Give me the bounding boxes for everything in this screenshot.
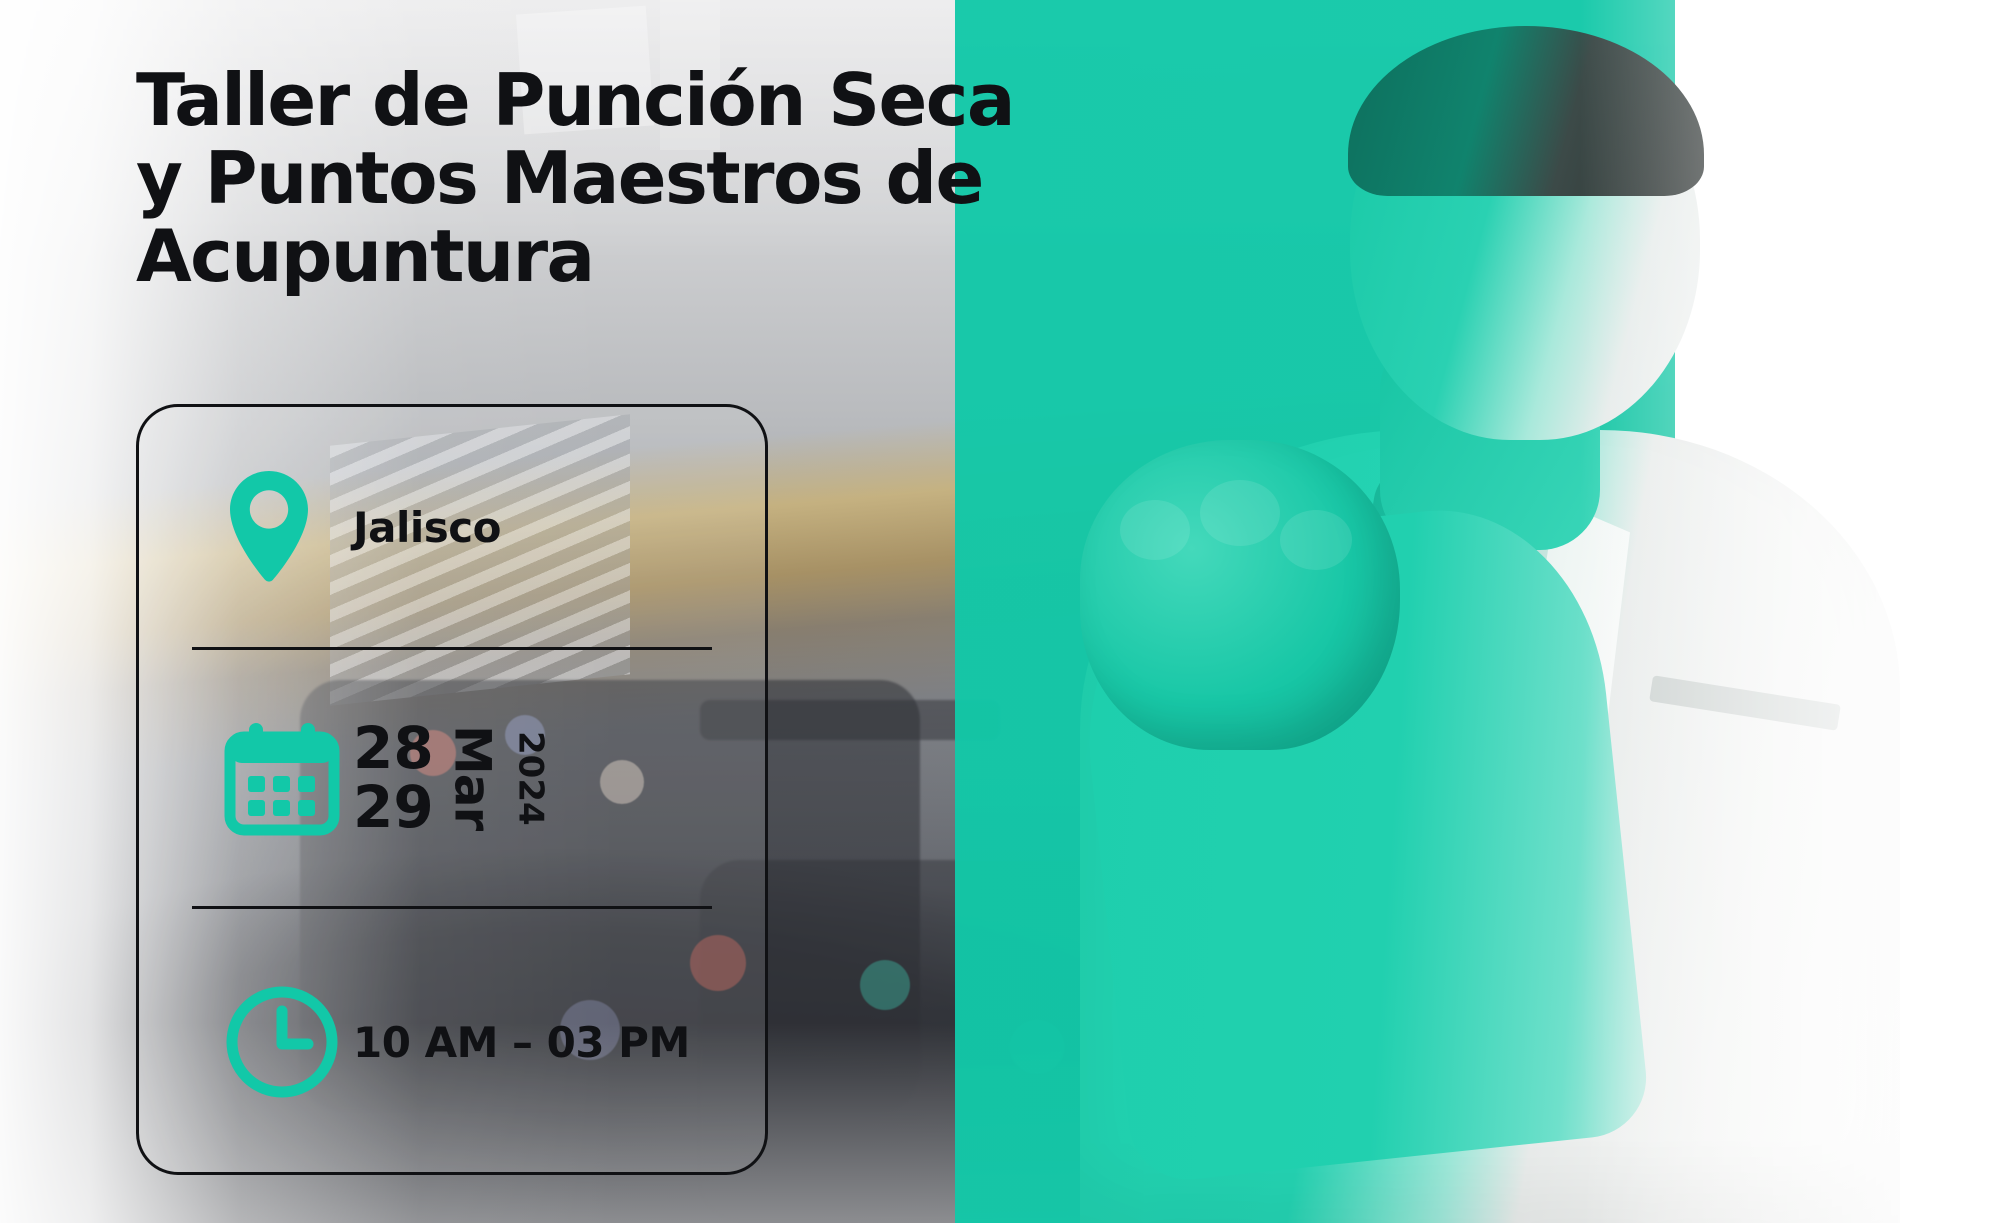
- date-month: Mar: [448, 725, 498, 830]
- presenter-hair: [1348, 26, 1704, 196]
- calendar-icon: [223, 719, 353, 837]
- event-poster: Taller de Punción Seca y Puntos Maestros…: [0, 0, 2000, 1223]
- time-value: 10 AM – 03 PM: [353, 1018, 690, 1067]
- info-row-time: 10 AM – 03 PM: [139, 909, 765, 1175]
- location-value: Jalisco: [353, 503, 501, 552]
- info-row-date: 28 29 Mar 2024: [139, 650, 765, 906]
- presenter-pointing-fist: [1080, 440, 1400, 750]
- date-days: 28 29: [353, 719, 434, 837]
- date-day-second: 29: [353, 778, 434, 837]
- info-row-location: Jalisco: [139, 407, 765, 647]
- location-pin-icon: [223, 467, 353, 587]
- date-year: 2024: [514, 731, 548, 826]
- date-day-first: 28: [353, 719, 434, 778]
- date-value-group: 28 29 Mar 2024: [353, 719, 548, 837]
- clock-icon: [223, 983, 353, 1101]
- presenter-knuckle: [1120, 500, 1190, 560]
- event-info-card: Jalisco 28: [136, 404, 768, 1175]
- page-title: Taller de Punción Seca y Puntos Maestros…: [136, 62, 1226, 295]
- presenter-knuckle: [1280, 510, 1352, 570]
- background-audience-dot: [860, 960, 910, 1010]
- presenter-knuckle: [1200, 480, 1280, 546]
